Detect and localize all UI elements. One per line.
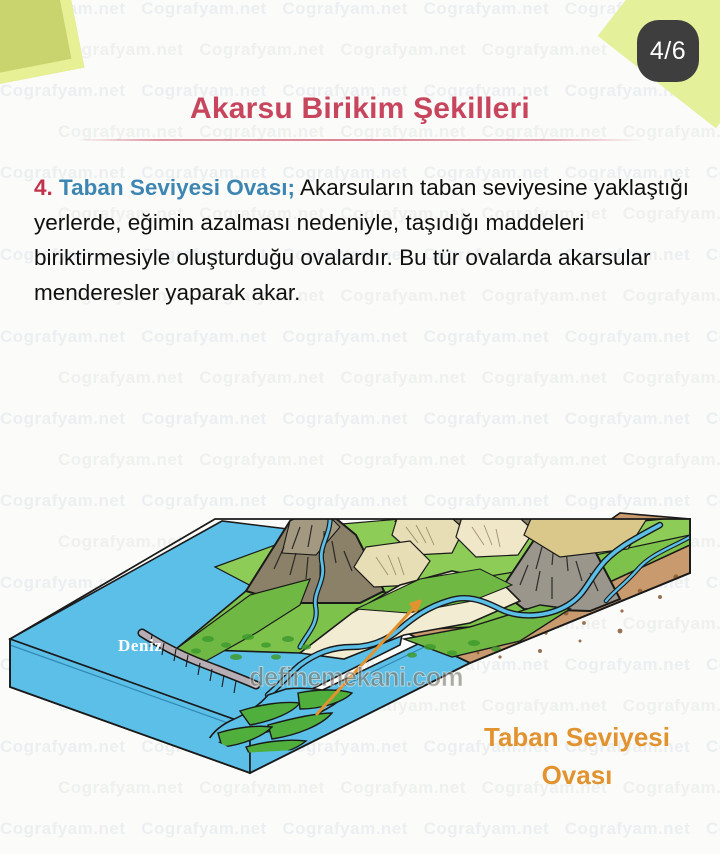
sea-label: Deniz [118, 636, 163, 656]
item-term: Taban Seviyesi Ovası; [59, 175, 295, 200]
title-divider [78, 139, 642, 141]
page-title-block: Akarsu Birikim Şekilleri [0, 92, 720, 141]
callout-label: Taban Seviyesi Ovası [452, 718, 702, 794]
slide-page: Cografyam.net Cografyam.net Cografyam.ne… [0, 0, 720, 854]
item-number: 4. [34, 175, 53, 200]
mountain-back-flank [532, 431, 620, 507]
background-watermark-row: Cografyam.net Cografyam.net Cografyam.ne… [0, 820, 720, 854]
background-watermark-row: Cografyam.net Cografyam.net Cografyam.ne… [0, 328, 720, 369]
page-counter-badge: 4/6 [637, 20, 699, 82]
mountain-back-peak-light [446, 421, 546, 487]
mountain-hatching-back [412, 439, 582, 513]
body-paragraph: 4. Taban Seviyesi Ovası; Akarsuların tab… [34, 170, 694, 310]
corner-decoration-top-left [0, 0, 84, 90]
callout-label-line-1: Taban Seviyesi [452, 718, 702, 756]
mountain-back-main [396, 417, 660, 529]
callout-label-line-2: Ovası [452, 756, 702, 794]
page-title: Akarsu Birikim Şekilleri [0, 92, 720, 126]
site-watermark: definemekani.com [249, 662, 463, 693]
page-counter-label: 4/6 [650, 37, 686, 66]
